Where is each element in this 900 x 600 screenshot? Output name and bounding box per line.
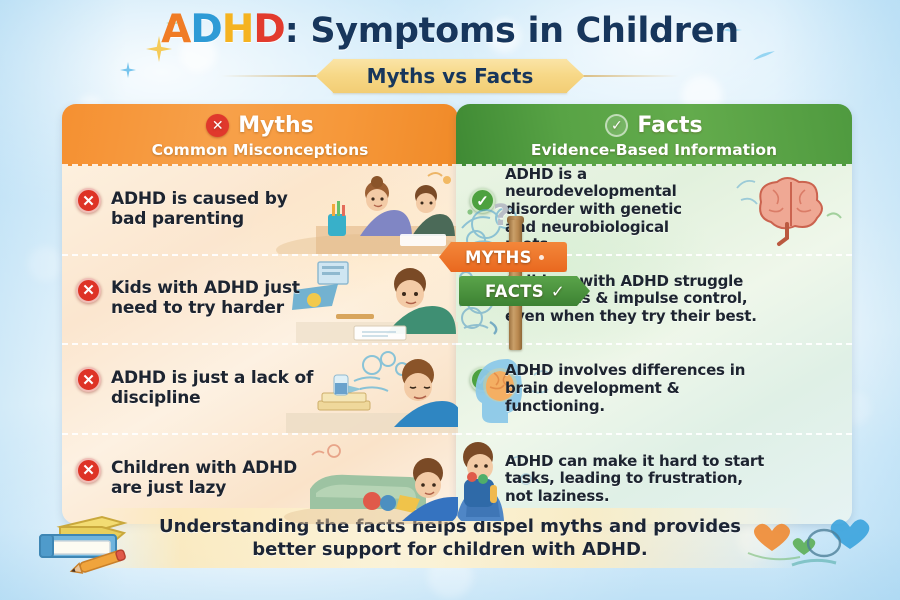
poster-header: ADHD: Symptoms in Children Myths vs Fact… [0, 10, 900, 93]
myths-heading: Myths [238, 115, 314, 137]
myth-row-3[interactable]: ✕ ADHD is just a lack of discipline [62, 345, 458, 435]
x-mark-icon: ✕ [206, 114, 229, 137]
footer-banner: Understanding the facts helps dispel myt… [96, 508, 804, 568]
subtitle-ribbon: Myths vs Facts [333, 59, 568, 93]
myth-text: ADHD is just a lack of discipline [111, 369, 321, 409]
x-mark-icon: ✕ [76, 367, 101, 392]
fact-text: ADHD can make it hard to start tasks, le… [505, 453, 770, 506]
footer-text: Understanding the facts helps dispel myt… [130, 515, 770, 561]
check-mark-icon: ✓ [470, 367, 495, 392]
comparison-board: ✕ Myths Common Misconceptions ✕ ADHD is … [62, 104, 852, 524]
facts-column-header: ✓ Facts Evidence-Based Information [456, 104, 852, 166]
facts-heading: Facts [637, 115, 702, 137]
question-mark-icon: ? [493, 198, 510, 232]
x-mark-icon: ✕ [76, 278, 101, 303]
dot-icon [539, 255, 544, 260]
title-subject: : Symptoms in Children [285, 11, 739, 51]
subtitle-ribbon-group: Myths vs Facts [0, 59, 900, 93]
page-title: ADHD: Symptoms in Children [0, 10, 900, 49]
myth-text: Kids with ADHD just need to try harder [111, 279, 321, 319]
signpost-myths-label: MYTHS [465, 248, 532, 267]
x-mark-icon: ✕ [76, 458, 101, 483]
facts-subheading: Evidence-Based Information [531, 141, 777, 159]
signpost-facts-label: FACTS [485, 282, 544, 301]
myth-text: ADHD is caused by bad parenting [111, 190, 321, 230]
title-letter-a: A [161, 7, 190, 52]
fact-row-3[interactable]: ✓ ADHD involves differences in brain dev… [456, 345, 852, 435]
signpost-myths-sign[interactable]: MYTHS [439, 242, 567, 272]
signpost-facts-sign[interactable]: FACTS ✓ [459, 276, 590, 306]
title-letter-d1: D [190, 7, 221, 52]
brain-illustration [731, 166, 850, 254]
myths-subheading: Common Misconceptions [152, 141, 369, 159]
myth-row-2[interactable]: ✕ Kids with ADHD just need to try harder [62, 256, 458, 346]
title-letter-h: H [222, 7, 254, 52]
x-mark-icon: ✕ [76, 188, 101, 213]
myths-column: ✕ Myths Common Misconceptions ✕ ADHD is … [62, 104, 458, 524]
fact-text: ADHD involves differences in brain devel… [505, 362, 770, 415]
check-mark-icon: ✓ [605, 114, 628, 137]
myths-list: ✕ ADHD is caused by bad parenting [62, 166, 458, 524]
signpost: ? MYTHS FACTS ✓ [443, 200, 585, 350]
title-letter-d2: D [253, 7, 284, 52]
myth-text: Children with ADHD are just lazy [111, 459, 321, 499]
myths-column-header: ✕ Myths Common Misconceptions [62, 104, 458, 166]
infographic-poster: ADHD: Symptoms in Children Myths vs Fact… [0, 0, 900, 600]
no-icon-placeholder [470, 458, 495, 483]
myth-row-1[interactable]: ✕ ADHD is caused by bad parenting [62, 166, 458, 256]
check-mark-icon: ✓ [551, 282, 565, 301]
